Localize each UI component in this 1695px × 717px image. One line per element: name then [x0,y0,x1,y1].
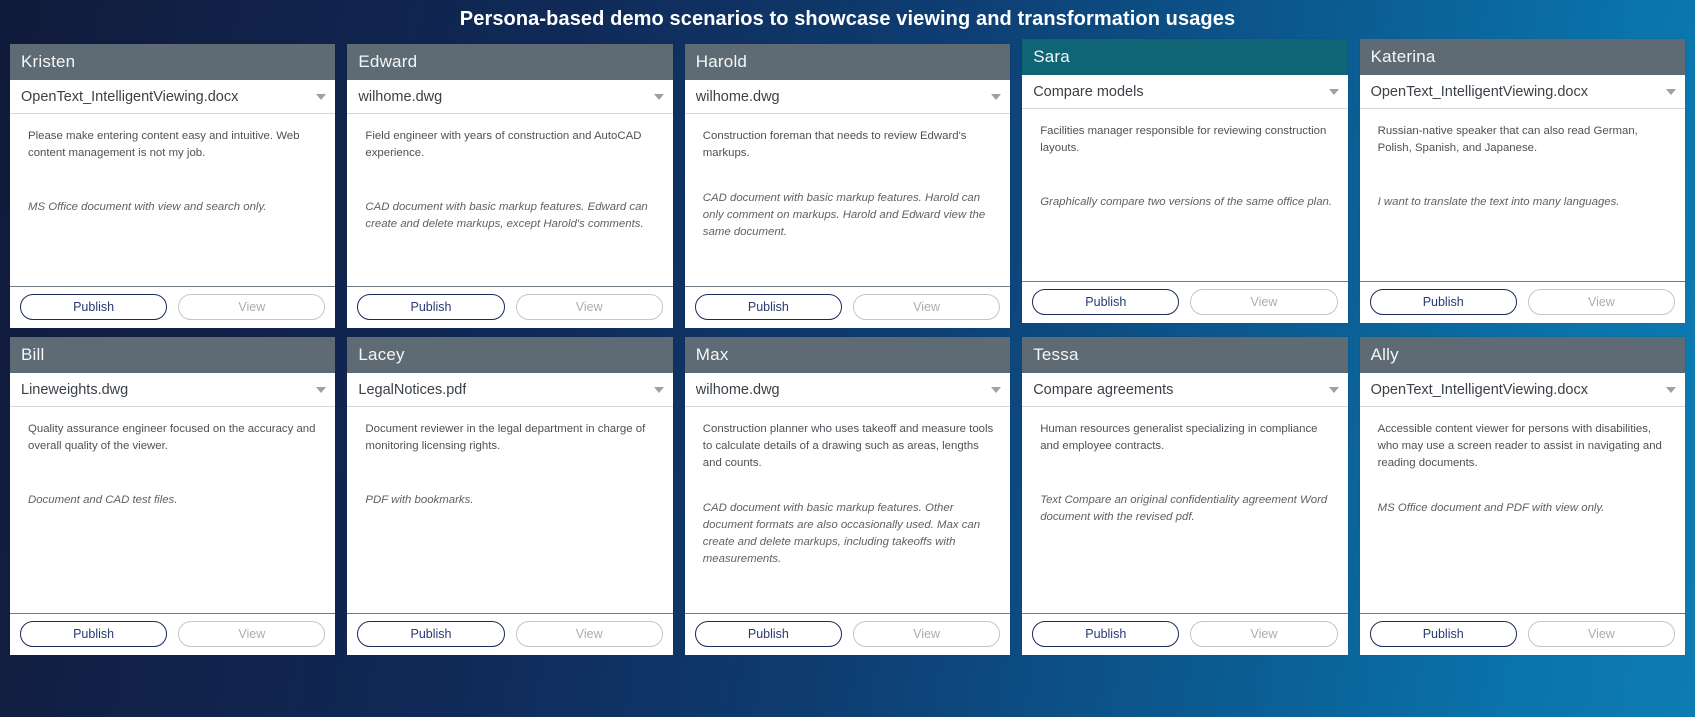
persona-note: CAD document with basic markup features.… [365,199,658,233]
card-header: Edward [347,44,672,80]
persona-card: KristenOpenText_IntelligentViewing.docxP… [10,44,335,328]
card-body: Quality assurance engineer focused on th… [10,407,335,613]
persona-card: KaterinaOpenText_IntelligentViewing.docx… [1360,39,1685,323]
document-dropdown-value: LegalNotices.pdf [358,382,466,398]
card-header: Katerina [1360,39,1685,75]
chevron-down-icon [991,387,1001,393]
publish-button[interactable]: Publish [20,621,167,647]
document-dropdown[interactable]: Lineweights.dwg [10,373,335,407]
card-header: Sara [1022,39,1347,75]
persona-name: Bill [21,345,44,365]
card-body: Facilities manager responsible for revie… [1022,109,1347,281]
document-dropdown[interactable]: Compare models [1022,75,1347,109]
document-dropdown[interactable]: OpenText_IntelligentViewing.docx [1360,373,1685,407]
persona-description: Quality assurance engineer focused on th… [28,421,321,455]
document-dropdown[interactable]: OpenText_IntelligentViewing.docx [1360,75,1685,109]
view-button: View [1190,289,1337,315]
card-footer: PublishView [1360,281,1685,323]
persona-description: Construction foreman that needs to revie… [703,128,996,162]
publish-button[interactable]: Publish [695,621,842,647]
view-button: View [516,294,663,320]
document-dropdown-value: OpenText_IntelligentViewing.docx [1371,382,1588,398]
persona-name: Katerina [1371,47,1436,67]
persona-description: Human resources generalist specializing … [1040,421,1333,455]
publish-button[interactable]: Publish [1032,289,1179,315]
view-button: View [1528,289,1675,315]
document-dropdown[interactable]: wilhome.dwg [685,373,1010,407]
view-button: View [853,621,1000,647]
card-footer: PublishView [685,286,1010,328]
document-dropdown-value: OpenText_IntelligentViewing.docx [1371,84,1588,100]
document-dropdown-value: wilhome.dwg [358,89,442,105]
persona-name: Ally [1371,345,1399,365]
persona-card: Edwardwilhome.dwgField engineer with yea… [347,44,672,328]
card-header: Harold [685,44,1010,80]
card-header: Bill [10,337,335,373]
card-footer: PublishView [1022,281,1347,323]
persona-name: Harold [696,52,747,72]
document-dropdown-value: Compare agreements [1033,382,1173,398]
persona-name: Edward [358,52,417,72]
card-header: Ally [1360,337,1685,373]
card-footer: PublishView [10,613,335,655]
publish-button[interactable]: Publish [1032,621,1179,647]
card-footer: PublishView [1022,613,1347,655]
persona-note: I want to translate the text into many l… [1378,194,1671,211]
persona-card: BillLineweights.dwgQuality assurance eng… [10,337,335,655]
card-body: Construction planner who uses takeoff an… [685,407,1010,613]
persona-description: Accessible content viewer for persons wi… [1378,421,1671,472]
chevron-down-icon [1329,89,1339,95]
document-dropdown[interactable]: wilhome.dwg [685,80,1010,114]
chevron-down-icon [654,387,664,393]
card-footer: PublishView [685,613,1010,655]
view-button: View [1528,621,1675,647]
view-button: View [1190,621,1337,647]
persona-note: MS Office document and PDF with view onl… [1378,500,1671,517]
publish-button[interactable]: Publish [357,621,504,647]
persona-name: Kristen [21,52,75,72]
card-footer: PublishView [347,613,672,655]
card-body: Document reviewer in the legal departmen… [347,407,672,613]
persona-note: PDF with bookmarks. [365,492,658,509]
title-bar: Persona-based demo scenarios to showcase… [0,0,1695,38]
card-header: Lacey [347,337,672,373]
document-dropdown-value: Lineweights.dwg [21,382,128,398]
view-button: View [178,621,325,647]
document-dropdown-value: wilhome.dwg [696,89,780,105]
card-body: Russian-native speaker that can also rea… [1360,109,1685,281]
card-header: Tessa [1022,337,1347,373]
card-footer: PublishView [10,286,335,328]
view-button: View [853,294,1000,320]
persona-name: Max [696,345,729,365]
chevron-down-icon [316,387,326,393]
publish-button[interactable]: Publish [1370,289,1517,315]
persona-note: Text Compare an original confidentiality… [1040,492,1333,526]
persona-note: CAD document with basic markup features.… [703,500,996,568]
persona-description: Facilities manager responsible for revie… [1040,123,1333,157]
persona-name: Sara [1033,47,1070,67]
persona-card: Maxwilhome.dwgConstruction planner who u… [685,337,1010,655]
persona-note: Document and CAD test files. [28,492,321,509]
persona-card: AllyOpenText_IntelligentViewing.docxAcce… [1360,337,1685,655]
persona-name: Tessa [1033,345,1078,365]
chevron-down-icon [1666,89,1676,95]
chevron-down-icon [1666,387,1676,393]
persona-description: Field engineer with years of constructio… [365,128,658,162]
document-dropdown-value: wilhome.dwg [696,382,780,398]
card-body: Human resources generalist specializing … [1022,407,1347,613]
publish-button[interactable]: Publish [695,294,842,320]
chevron-down-icon [654,94,664,100]
publish-button[interactable]: Publish [357,294,504,320]
persona-name: Lacey [358,345,404,365]
persona-note: CAD document with basic markup features.… [703,190,996,241]
card-header: Kristen [10,44,335,80]
persona-description: Russian-native speaker that can also rea… [1378,123,1671,157]
page-title: Persona-based demo scenarios to showcase… [460,8,1235,31]
chevron-down-icon [316,94,326,100]
persona-description: Construction planner who uses takeoff an… [703,421,996,472]
chevron-down-icon [991,94,1001,100]
document-dropdown-value: Compare models [1033,84,1143,100]
card-footer: PublishView [1360,613,1685,655]
persona-description: Please make entering content easy and in… [28,128,321,162]
view-button: View [178,294,325,320]
card-body: Accessible content viewer for persons wi… [1360,407,1685,613]
view-button: View [516,621,663,647]
card-body: Field engineer with years of constructio… [347,114,672,286]
document-dropdown[interactable]: wilhome.dwg [347,80,672,114]
chevron-down-icon [1329,387,1339,393]
publish-button[interactable]: Publish [20,294,167,320]
persona-card: Haroldwilhome.dwgConstruction foreman th… [685,44,1010,328]
document-dropdown[interactable]: LegalNotices.pdf [347,373,672,407]
document-dropdown[interactable]: OpenText_IntelligentViewing.docx [10,80,335,114]
document-dropdown-value: OpenText_IntelligentViewing.docx [21,89,238,105]
document-dropdown[interactable]: Compare agreements [1022,373,1347,407]
card-header: Max [685,337,1010,373]
persona-note: MS Office document with view and search … [28,199,321,216]
card-body: Construction foreman that needs to revie… [685,114,1010,286]
persona-cards-grid: KristenOpenText_IntelligentViewing.docxP… [10,44,1685,655]
persona-card: SaraCompare modelsFacilities manager res… [1022,39,1347,323]
persona-note: Graphically compare two versions of the … [1040,194,1333,211]
card-body: Please make entering content easy and in… [10,114,335,286]
publish-button[interactable]: Publish [1370,621,1517,647]
persona-description: Document reviewer in the legal departmen… [365,421,658,455]
persona-card: TessaCompare agreementsHuman resources g… [1022,337,1347,655]
persona-card: LaceyLegalNotices.pdfDocument reviewer i… [347,337,672,655]
card-footer: PublishView [347,286,672,328]
